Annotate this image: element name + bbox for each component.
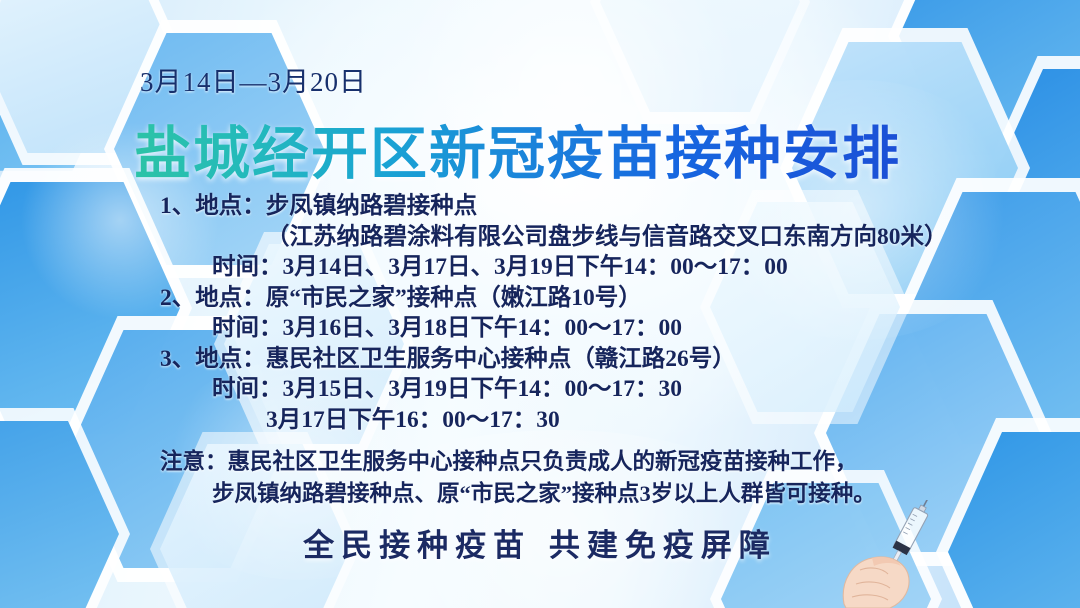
page-title: 盐城经开区新冠疫苗接种安排: [134, 108, 901, 190]
site-list: 1、地点：步凤镇纳路碧接种点 （江苏纳路碧涂料有限公司盘步线与信音路交叉口东南方…: [160, 191, 1000, 435]
site-2-time: 时间：3月16日、3月18日下午14：00～17：00: [160, 313, 1000, 344]
site-3-time: 时间：3月15日、3月19日下午14：00～17：30: [160, 374, 1000, 405]
hexagon-shape: [899, 0, 1080, 155]
hexagon-shape: [0, 0, 120, 175]
hexagon-outline: [0, 408, 130, 608]
site-3-time-extra: 3月17日下午16：00～17：30: [160, 405, 1000, 436]
hexagon-shape: [0, 421, 119, 608]
hexagon-shape: [991, 69, 1080, 299]
syringe-in-hand-icon: [838, 500, 988, 608]
hexagon-outline: [888, 0, 1080, 168]
site-1-address: （江苏纳路碧涂料有限公司盘步线与信音路交叉口东南方向80米）: [160, 222, 1000, 253]
vaccination-schedule-poster: 3月14日—3月20日 盐城经开区新冠疫苗接种安排 1、地点：步凤镇纳路碧接种点…: [0, 0, 1080, 608]
site-2-location: 2、地点：原“市民之家”接种点（嫩江路10号）: [160, 283, 1000, 314]
hexagon-shape: [0, 182, 180, 434]
notice-line-1: 注意：惠民社区卫生服务中心接种点只负责成人的新冠疫苗接种工作，: [160, 446, 1020, 478]
hexagon-shape: [600, 0, 800, 112]
site-1-location: 1、地点：步凤镇纳路碧接种点: [160, 191, 1000, 222]
site-3-location: 3、地点：惠民社区卫生服务中心接种点（赣江路26号）: [160, 344, 1000, 375]
site-1-time: 时间：3月14日、3月17日、3月19日下午14：00～17：00: [160, 252, 1000, 283]
hexagon-outline: [590, 0, 810, 124]
date-range: 3月14日—3月20日: [140, 60, 367, 99]
